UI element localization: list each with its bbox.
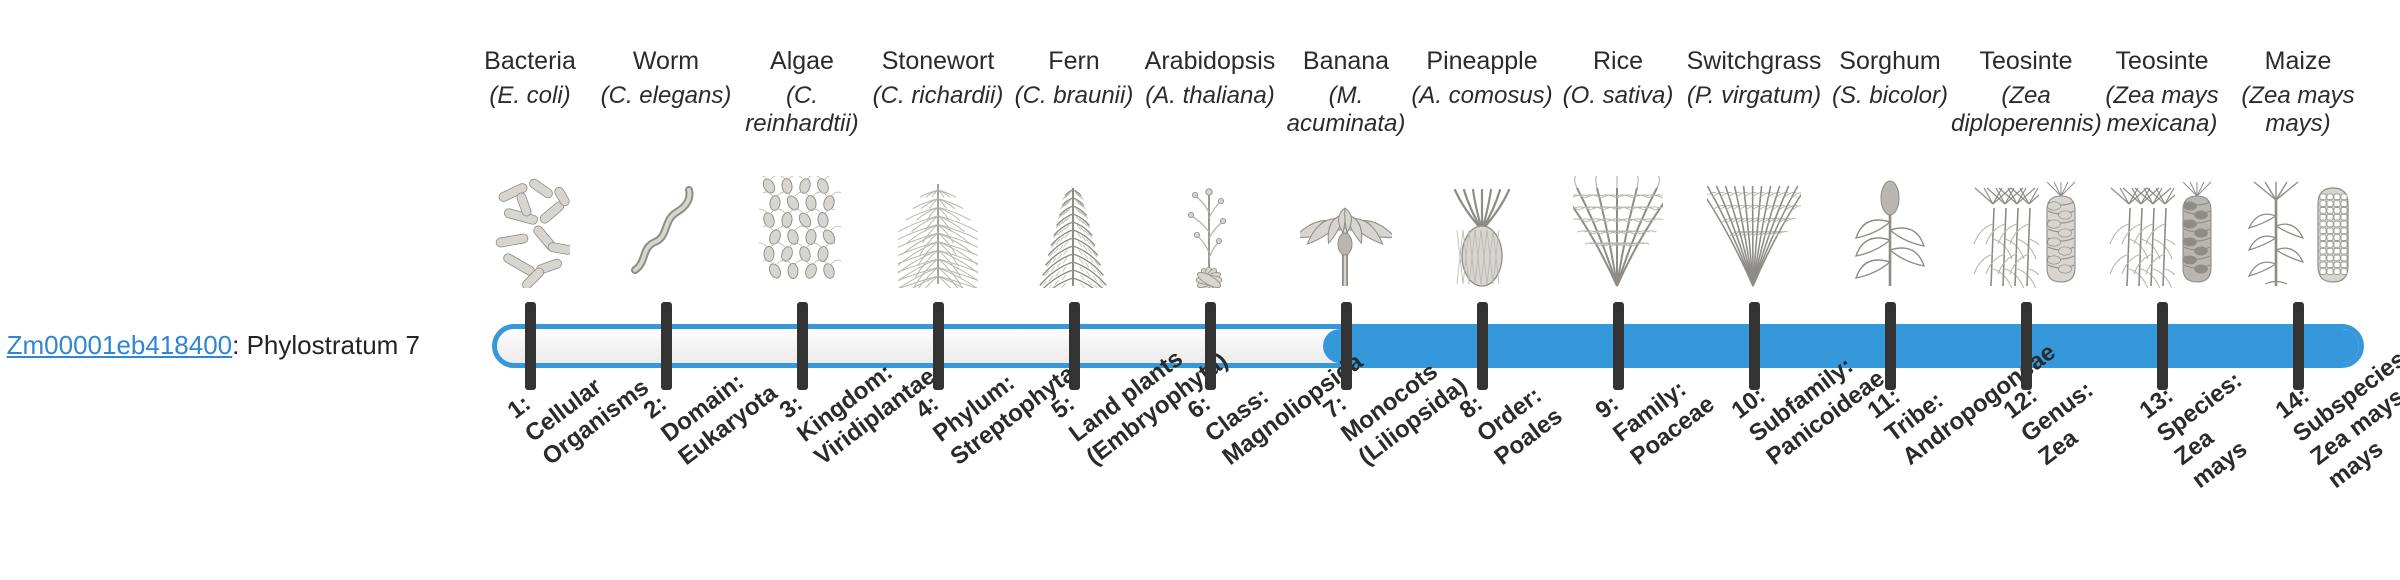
species-scientific-name: (S. bicolor) [1815, 82, 1965, 140]
arabidopsis-plant-icon [1135, 168, 1285, 288]
species-common-name: Maize [2223, 46, 2373, 78]
stonewort-icon [863, 168, 1013, 288]
species-column-1: Bacteria(E. coli) [455, 46, 605, 140]
species-scientific-name: (E. coli) [455, 82, 605, 140]
species-column-12: Teosinte(Zea diploperennis) [1951, 46, 2101, 140]
species-common-name: Algae [727, 46, 877, 78]
species-column-11: Sorghum(S. bicolor) [1815, 46, 1965, 140]
pineapple-icon [1407, 168, 1557, 288]
species-column-9: Rice(O. sativa) [1543, 46, 1693, 140]
species-scientific-name: (O. sativa) [1543, 82, 1693, 140]
species-column-8: Pineapple(A. comosus) [1407, 46, 1557, 140]
label-separator: : [232, 330, 246, 360]
phylostratum-value-label: Phylostratum 7 [247, 330, 420, 360]
rice-plant-icon [1543, 168, 1693, 288]
species-common-name: Rice [1543, 46, 1693, 78]
species-common-name: Teosinte [2087, 46, 2237, 78]
species-column-4: Stonewort(C. richardii) [863, 46, 1013, 140]
species-scientific-name: (C. braunii) [999, 82, 1149, 140]
fern-frond-icon [999, 168, 1149, 288]
species-column-7: Banana(M. acuminata) [1271, 46, 1421, 140]
species-column-5: Fern(C. braunii) [999, 46, 1149, 140]
species-common-name: Worm [591, 46, 741, 78]
species-scientific-name: (A. comosus) [1407, 82, 1557, 140]
species-common-name: Sorghum [1815, 46, 1965, 78]
species-common-name: Switchgrass [1679, 46, 1829, 78]
teosinte-plant-ear-icon [1951, 168, 2101, 288]
phylostratum-figure: Zm00001eb418400: Phylostratum 7 Bacteria… [0, 0, 2400, 580]
row-label: Zm00001eb418400: Phylostratum 7 [0, 330, 420, 360]
species-scientific-name: (Zea mays mexicana) [2087, 82, 2237, 140]
species-scientific-name: (P. virgatum) [1679, 82, 1829, 140]
species-scientific-name: (Zea diploperennis) [1951, 82, 2101, 140]
gene-id-link[interactable]: Zm00001eb418400 [7, 330, 233, 360]
species-scientific-name: (C. elegans) [591, 82, 741, 140]
species-common-name: Fern [999, 46, 1149, 78]
species-common-name: Stonewort [863, 46, 1013, 78]
species-column-14: Maize(Zea mays mays) [2223, 46, 2373, 140]
species-scientific-name: (C. reinhardtii) [727, 82, 877, 140]
species-common-name: Arabidopsis [1135, 46, 1285, 78]
species-common-name: Teosinte [1951, 46, 2101, 78]
species-scientific-name: (C. richardii) [863, 82, 1013, 140]
species-common-name: Banana [1271, 46, 1421, 78]
banana-tree-icon [1271, 168, 1421, 288]
bacteria-rods-icon [455, 168, 605, 288]
species-scientific-name: (A. thaliana) [1135, 82, 1285, 140]
species-column-10: Switchgrass(P. virgatum) [1679, 46, 1829, 140]
algae-cells-icon [727, 168, 877, 288]
species-column-6: Arabidopsis(A. thaliana) [1135, 46, 1285, 140]
teosinte-plant-ear-icon [2087, 168, 2237, 288]
species-scientific-name: (M. acuminata) [1271, 82, 1421, 140]
species-common-name: Pineapple [1407, 46, 1557, 78]
species-column-13: Teosinte(Zea mays mexicana) [2087, 46, 2237, 140]
species-scientific-name: (Zea mays mays) [2223, 82, 2373, 140]
species-common-name: Bacteria [455, 46, 605, 78]
species-column-2: Worm(C. elegans) [591, 46, 741, 140]
switchgrass-icon [1679, 168, 1829, 288]
species-column-3: Algae(C. reinhardtii) [727, 46, 877, 140]
nematode-worm-icon [591, 168, 741, 288]
maize-plant-cob-icon [2223, 168, 2373, 288]
rank-label-8: 8:Order:Poales [1454, 355, 1568, 471]
sorghum-plant-icon [1815, 168, 1965, 288]
